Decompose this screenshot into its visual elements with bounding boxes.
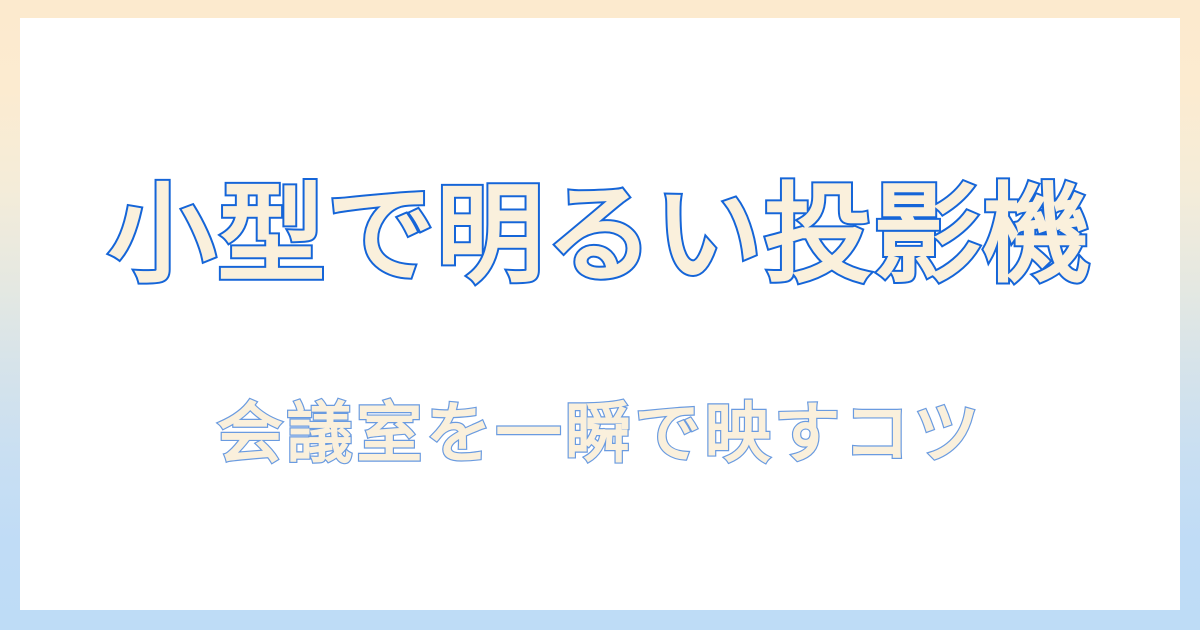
subheadline-text: 会議室を一瞬で映すコツ: [217, 396, 983, 472]
subheadline-container: 会議室を一瞬で映すコツ: [20, 396, 1180, 472]
headline-text: 小型で明るい投影機: [108, 176, 1092, 297]
headline-container: 小型で明るい投影機: [20, 176, 1180, 297]
white-content-card: 小型で明るい投影機 会議室を一瞬で映すコツ: [20, 18, 1180, 610]
thumbnail-canvas: 小型で明るい投影機 会議室を一瞬で映すコツ: [0, 0, 1200, 630]
text-content-area: 小型で明るい投影機 会議室を一瞬で映すコツ: [20, 18, 1180, 610]
